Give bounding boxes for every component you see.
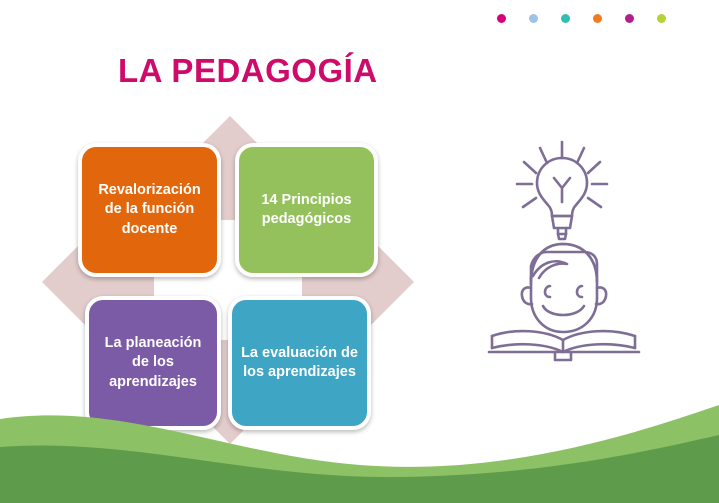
decorative-dot-row <box>497 14 667 26</box>
page-title: LA PEDAGOGÍA <box>118 52 378 90</box>
dot-teal <box>561 14 570 23</box>
bottom-wave-decoration <box>0 383 719 503</box>
card-14-principios-pedagogicos[interactable]: 14 Principios pedagógicos <box>235 143 378 277</box>
smile-icon <box>543 306 584 315</box>
dot-lime <box>657 14 666 23</box>
hair-strand-icon <box>533 261 567 278</box>
card-revalorizacion-funcion-docente[interactable]: Revalorización de la función docente <box>78 143 221 277</box>
right-eye-icon <box>577 286 582 297</box>
idea-learning-illustration <box>487 136 667 366</box>
slide-canvas: LA PEDAGOGÍA Revalorización de la funció… <box>0 0 719 503</box>
dot-light-blue <box>529 14 538 23</box>
lightbulb-base-icon <box>552 216 572 228</box>
dot-orange <box>593 14 602 23</box>
dot-magenta <box>497 14 506 23</box>
lightbulb-filament-icon <box>554 178 570 202</box>
left-eye-icon <box>545 286 550 297</box>
student-head-icon <box>522 244 606 332</box>
open-book-icon <box>489 331 639 360</box>
dot-purple <box>625 14 634 23</box>
